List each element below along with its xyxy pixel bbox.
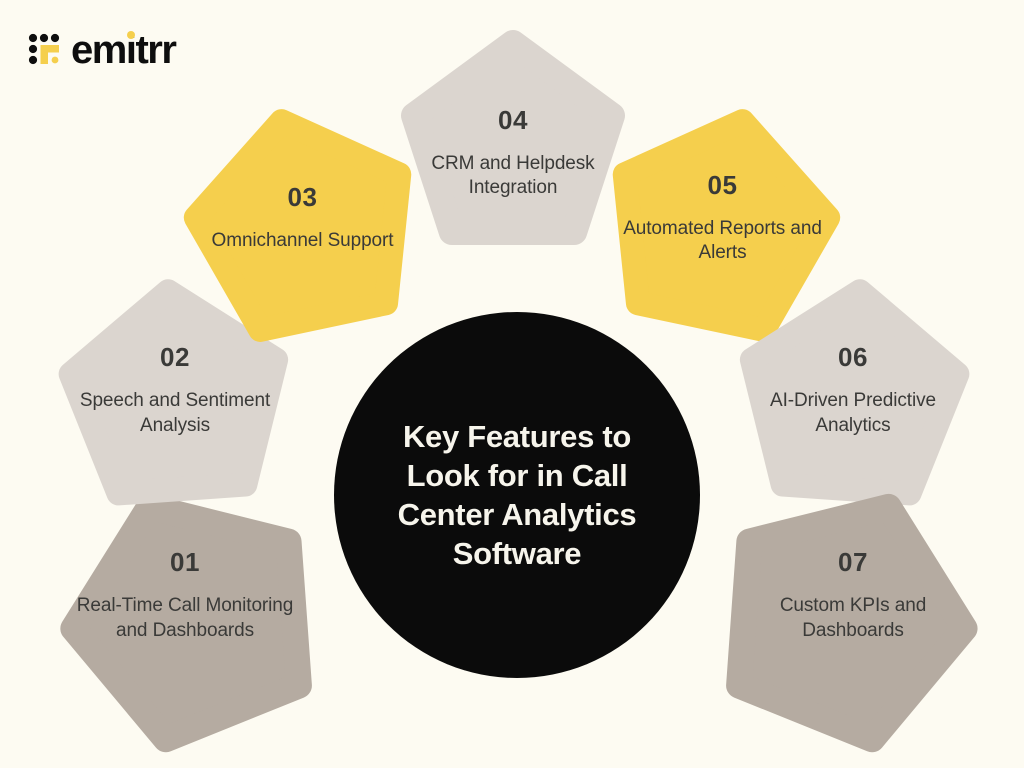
emitrr-dot-grid-icon xyxy=(28,33,62,67)
pentagon-shape-03 xyxy=(180,115,425,320)
logo-i-dot-icon xyxy=(127,31,135,39)
feature-node-06[interactable]: 06 AI-Driven Predictive Analytics xyxy=(733,285,973,495)
brand-logo: emitrr xyxy=(28,26,175,74)
pentagon-shape-01 xyxy=(60,500,310,690)
feature-node-01[interactable]: 01 Real-Time Call Monitoring and Dashboa… xyxy=(60,500,310,690)
brand-wordmark: emitrr xyxy=(71,30,175,70)
page-title: Key Features to Look for in Call Center … xyxy=(367,417,667,573)
center-hub: Key Features to Look for in Call Center … xyxy=(334,312,700,678)
pentagon-shape-07 xyxy=(728,500,978,690)
pentagon-shape-04 xyxy=(398,35,628,270)
feature-node-03[interactable]: 03 Omnichannel Support xyxy=(180,115,425,320)
pentagon-shape-06 xyxy=(733,285,973,495)
feature-node-07[interactable]: 07 Custom KPIs and Dashboards xyxy=(728,500,978,690)
feature-node-04[interactable]: 04 CRM and Helpdesk Integration xyxy=(398,35,628,270)
